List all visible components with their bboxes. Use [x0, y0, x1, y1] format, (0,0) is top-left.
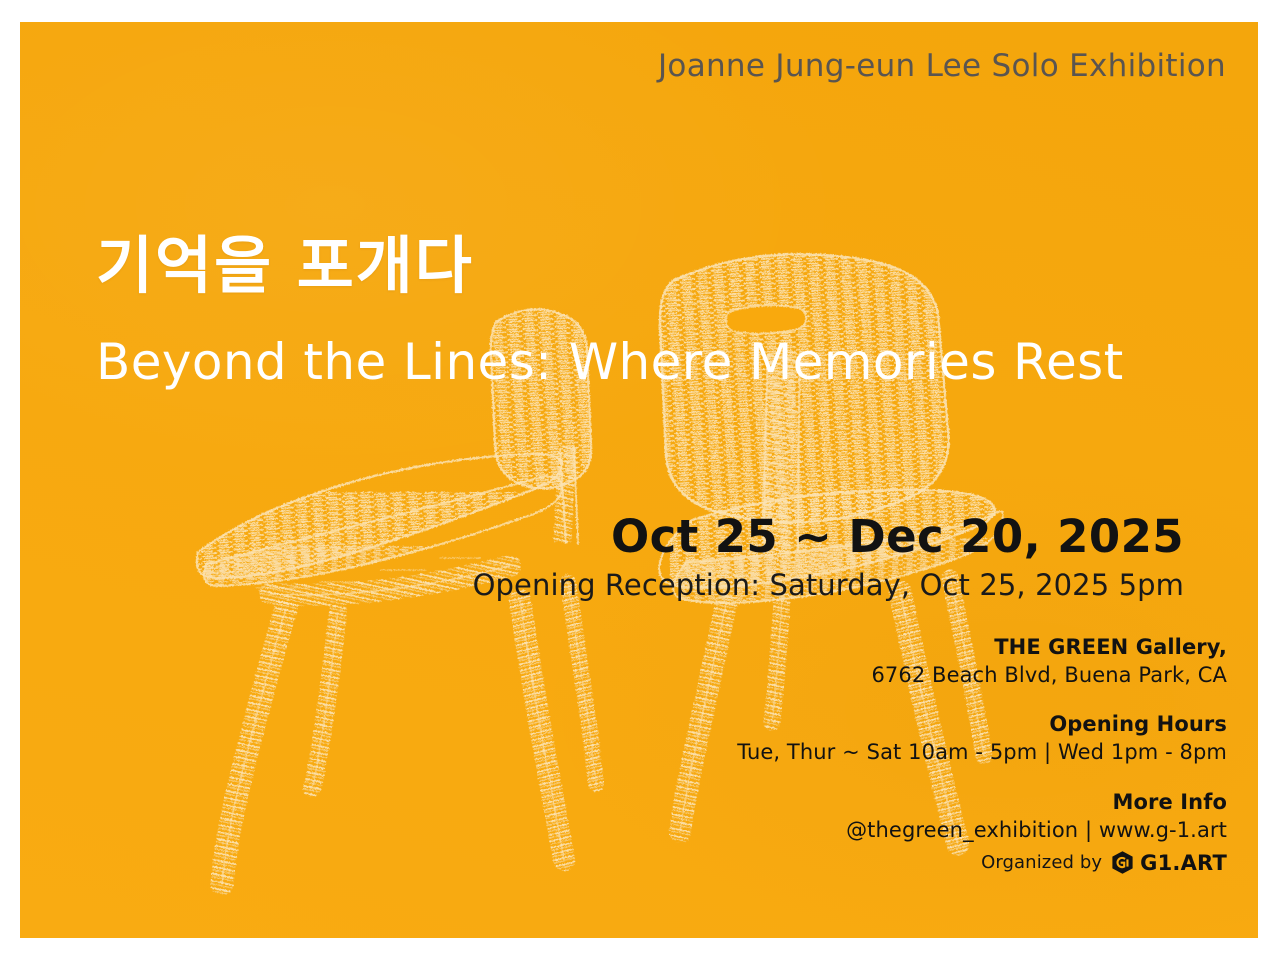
korean-title: 기억을 포개다 [96, 215, 474, 305]
g1-art-logo: G1.ART [1110, 850, 1227, 875]
artist-exhibition-header: Joanne Jung-eun Lee Solo Exhibition [658, 48, 1226, 84]
g1-art-wordmark: G1.ART [1140, 851, 1227, 875]
more-info-block: More Info @thegreen_exhibition | www.g-1… [737, 789, 1227, 844]
organizer-block: Organized by G1.ART [737, 850, 1227, 875]
more-info-heading: More Info [737, 789, 1227, 817]
exhibition-dates-block: Oct 25 ~ Dec 20, 2025 Opening Reception:… [473, 512, 1184, 603]
venue-block: THE GREEN Gallery, 6762 Beach Blvd, Buen… [737, 634, 1227, 689]
hours-block: Opening Hours Tue, Thur ~ Sat 10am - 5pm… [737, 711, 1227, 766]
venue-name: THE GREEN Gallery, [737, 634, 1227, 662]
english-title: Beyond the Lines: Where Memories Rest [96, 333, 1124, 391]
venue-address: 6762 Beach Blvd, Buena Park, CA [737, 662, 1227, 690]
hours-detail: Tue, Thur ~ Sat 10am - 5pm | Wed 1pm - 8… [737, 739, 1227, 767]
organizer-byline: Organized by [981, 852, 1102, 873]
exhibition-date-range: Oct 25 ~ Dec 20, 2025 [473, 512, 1184, 562]
exhibition-poster: Joanne Jung-eun Lee Solo Exhibition 기억을 … [20, 22, 1258, 938]
opening-reception-line: Opening Reception: Saturday, Oct 25, 202… [473, 568, 1184, 603]
gallery-info-block: THE GREEN Gallery, 6762 Beach Blvd, Buen… [737, 634, 1227, 875]
g1-hexagon-badge-icon [1110, 850, 1135, 875]
more-info-detail[interactable]: @thegreen_exhibition | www.g-1.art [737, 817, 1227, 845]
hours-heading: Opening Hours [737, 711, 1227, 739]
